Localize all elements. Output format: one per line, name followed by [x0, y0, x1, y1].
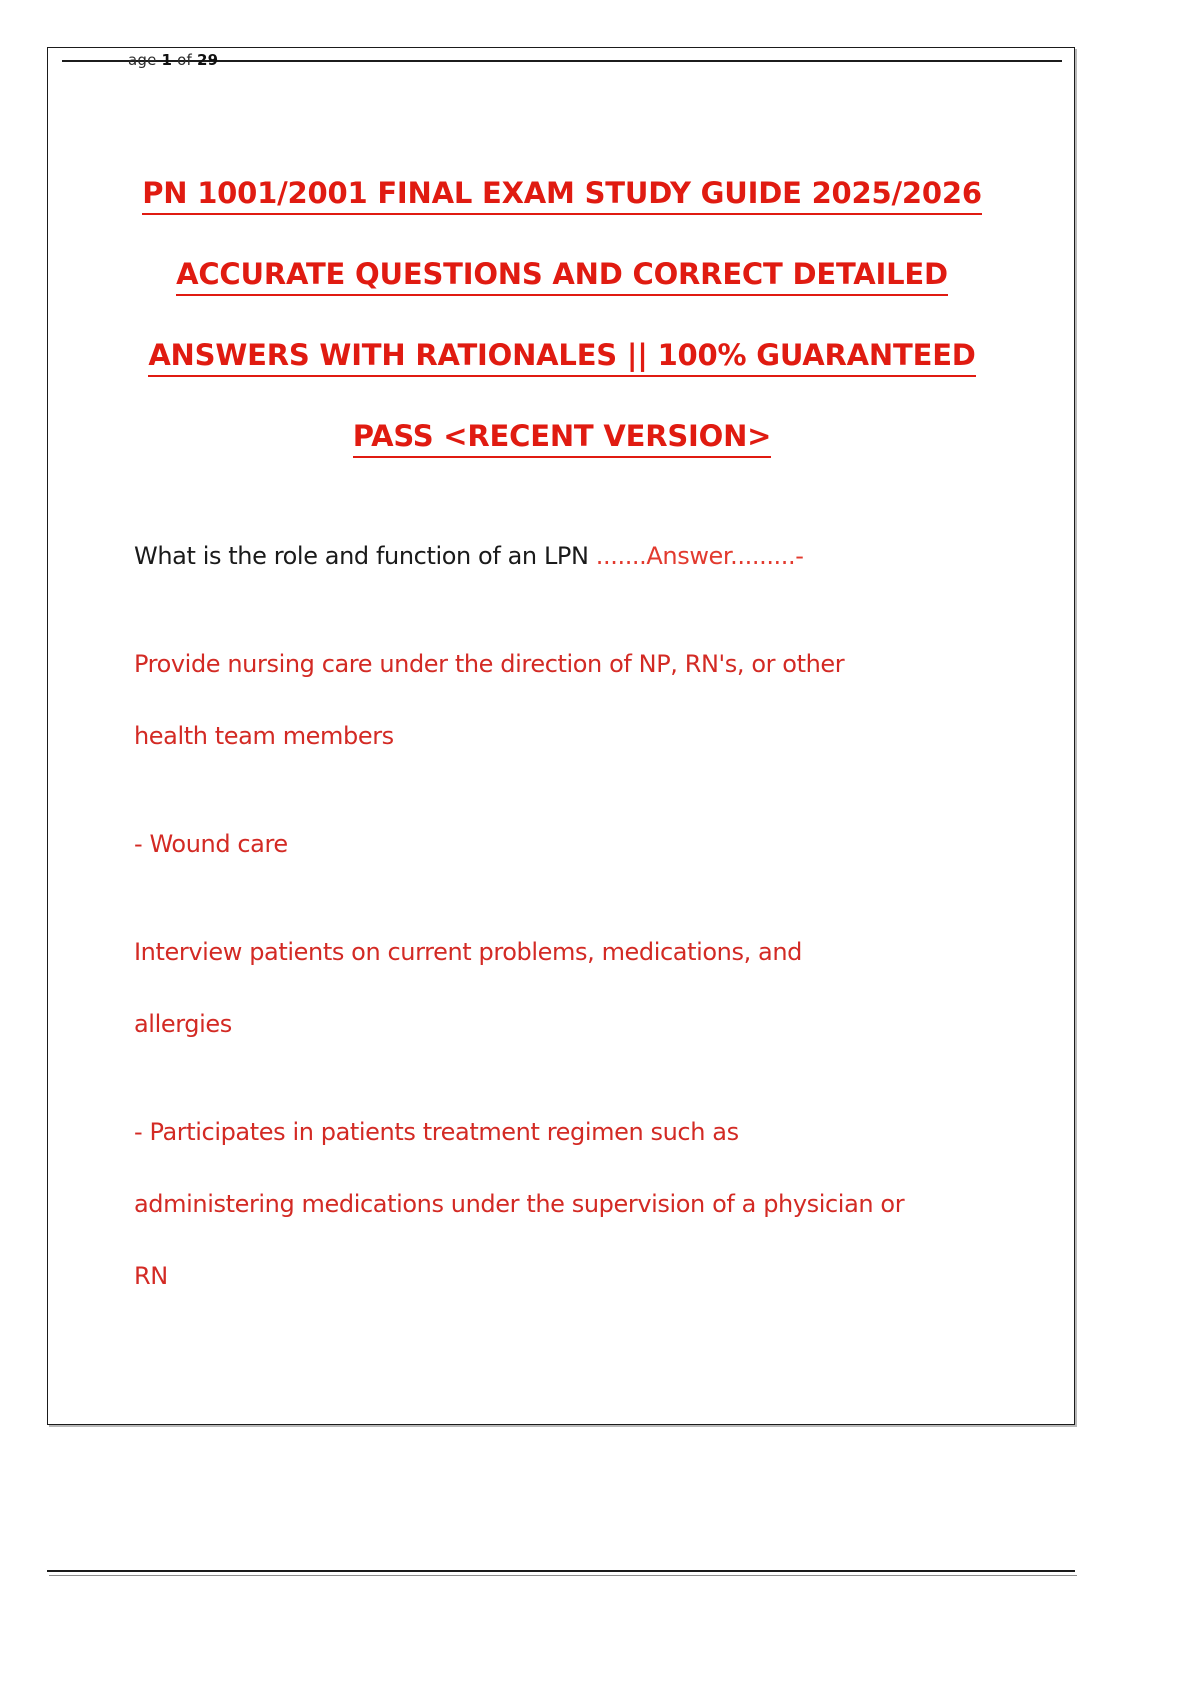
title-line-4: PASS <RECENT VERSION>: [106, 396, 1018, 477]
title-line-1-text: PN 1001/2001 FINAL EXAM STUDY GUIDE 2025…: [142, 176, 982, 215]
title-line-2-text: ACCURATE QUESTIONS AND CORRECT DETAILED: [176, 257, 948, 296]
answer-line-3: - Wound care: [134, 808, 1014, 880]
answer-line-8: RN: [134, 1240, 1014, 1312]
document-title: PN 1001/2001 FINAL EXAM STUDY GUIDE 2025…: [106, 153, 1018, 477]
answer-line-7: administering medications under the supe…: [134, 1168, 1014, 1240]
title-line-2: ACCURATE QUESTIONS AND CORRECT DETAILED: [106, 234, 1018, 315]
title-line-3: ANSWERS WITH RATIONALES || 100% GUARANTE…: [106, 315, 1018, 396]
title-line-1: PN 1001/2001 FINAL EXAM STUDY GUIDE 2025…: [106, 153, 1018, 234]
study-guide-body: What is the role and function of an LPN …: [134, 520, 1014, 1312]
next-page-top-border: [47, 1570, 1075, 1572]
answer-marker: .......Answer.........-: [596, 542, 804, 570]
answer-line-4: Interview patients on current problems, …: [134, 916, 1014, 988]
answer-line-5: allergies: [134, 988, 1014, 1060]
answer-line-1: Provide nursing care under the direction…: [134, 628, 1014, 700]
next-page-border-shadow: [49, 1575, 1077, 1576]
title-line-4-text: PASS <RECENT VERSION>: [353, 419, 772, 458]
question-text: What is the role and function of an LPN: [134, 542, 596, 570]
answer-line-2: health team members: [134, 700, 1014, 772]
document-page: age 1 of 29 PN 1001/2001 FINAL EXAM STUD…: [47, 47, 1075, 1425]
question-line: What is the role and function of an LPN …: [134, 520, 1014, 592]
answer-line-6: - Participates in patients treatment reg…: [134, 1096, 1014, 1168]
title-line-3-text: ANSWERS WITH RATIONALES || 100% GUARANTE…: [148, 338, 975, 377]
page-content: PN 1001/2001 FINAL EXAM STUDY GUIDE 2025…: [48, 48, 1074, 1424]
